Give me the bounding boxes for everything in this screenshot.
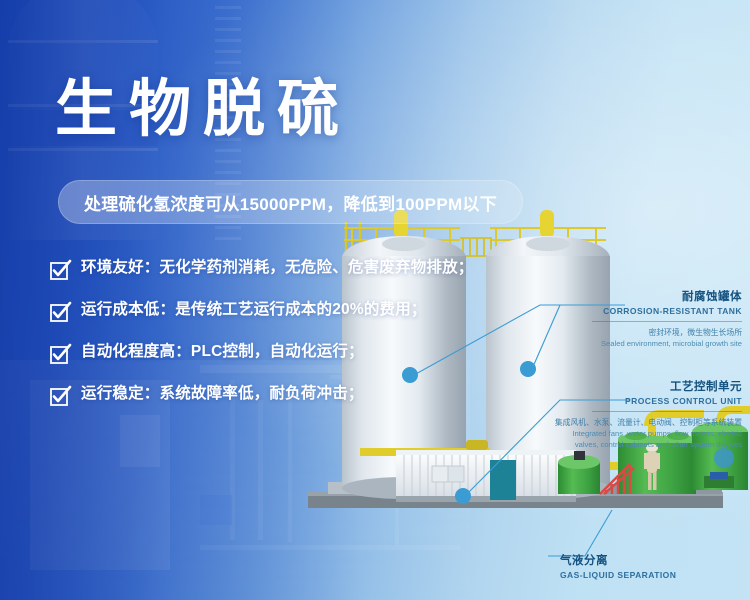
checkbox-checked-icon bbox=[50, 260, 70, 280]
callout-process-control-unit: 工艺控制单元 PROCESS CONTROL UNIT 集成风机、水泵、流量计、… bbox=[552, 378, 742, 450]
callout-corrosion-resistant-tank: 耐腐蚀罐体 CORROSION-RESISTANT TANK 密封环境，微生物生… bbox=[552, 288, 742, 349]
subtitle-text: 处理硫化氢浓度可从15000PPM，降低到100PPM以下 bbox=[84, 190, 497, 215]
vent-stack bbox=[540, 210, 554, 238]
callout-desc-en: Integrated fans, water pumps, flow meter… bbox=[552, 428, 742, 450]
callout-title-cn: 耐腐蚀罐体 bbox=[552, 288, 742, 304]
feature-text: 运行稳定：系统故障率低，耐负荷冲击； bbox=[81, 384, 364, 404]
page-title: 生物脱硫 bbox=[55, 78, 351, 140]
divider bbox=[592, 411, 742, 412]
callout-desc-cn: 集成风机、水泵、流量计、电动阀、控制柜等系统装置 bbox=[552, 417, 742, 428]
callout-title-cn: 工艺控制单元 bbox=[552, 378, 742, 394]
control-container bbox=[396, 450, 576, 502]
list-item: 自动化程度高：PLC控制，自动化运行； bbox=[50, 342, 470, 364]
feature-list: 环境友好：无化学药剂消耗，无危险、危害废弃物排放； 运行成本低：是传统工艺运行成… bbox=[50, 258, 470, 426]
feature-text: 运行成本低：是传统工艺运行成本的20%的费用； bbox=[81, 300, 427, 320]
callout-title-cn: 气液分离 bbox=[560, 552, 710, 568]
list-item: 运行稳定：系统故障率低，耐负荷冲击； bbox=[50, 384, 470, 406]
green-vessel-small bbox=[558, 451, 600, 494]
callout-title-en: PROCESS CONTROL UNIT bbox=[552, 396, 742, 406]
callout-desc-en: Sealed environment, microbial growth sit… bbox=[552, 338, 742, 349]
callout-title-en: GAS-LIQUID SEPARATION bbox=[560, 570, 710, 580]
checkbox-checked-icon bbox=[50, 344, 70, 364]
callout-gas-liquid-separation: 气液分离 GAS-LIQUID SEPARATION bbox=[560, 552, 710, 580]
banner-stage: 生物脱硫 处理硫化氢浓度可从15000PPM，降低到100PPM以下 环境友好：… bbox=[0, 0, 750, 600]
feature-text: 环境友好：无化学药剂消耗，无危险、危害废弃物排放； bbox=[81, 258, 474, 278]
divider bbox=[592, 321, 742, 322]
catwalk-bridge bbox=[460, 238, 492, 256]
list-item: 运行成本低：是传统工艺运行成本的20%的费用； bbox=[50, 300, 470, 322]
subtitle-banner: 处理硫化氢浓度可从15000PPM，降低到100PPM以下 bbox=[58, 180, 523, 224]
checkbox-checked-icon bbox=[50, 386, 70, 406]
callout-desc-cn: 密封环境，微生物生长场所 bbox=[552, 327, 742, 338]
callout-title-en: CORROSION-RESISTANT TANK bbox=[552, 306, 742, 316]
container-door bbox=[490, 460, 516, 500]
feature-text: 自动化程度高：PLC控制，自动化运行； bbox=[81, 342, 364, 362]
list-item: 环境友好：无化学药剂消耗，无危险、危害废弃物排放； bbox=[50, 258, 470, 280]
checkbox-checked-icon bbox=[50, 302, 70, 322]
